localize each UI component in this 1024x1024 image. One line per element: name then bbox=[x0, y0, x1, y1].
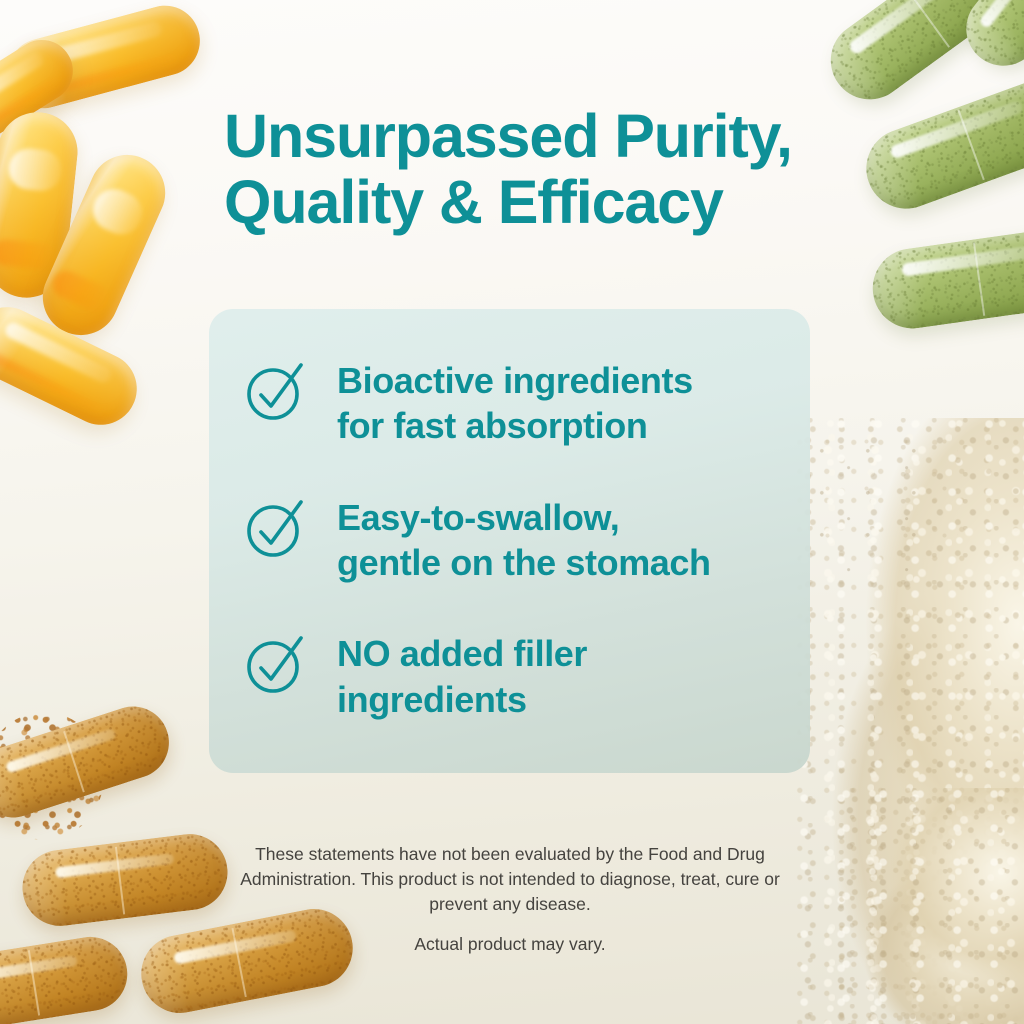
softgel-capsule bbox=[0, 28, 85, 149]
check-circle-icon bbox=[243, 631, 309, 697]
green-capsule bbox=[868, 222, 1024, 333]
turmeric-capsule bbox=[0, 697, 178, 827]
turmeric-capsule bbox=[0, 932, 133, 1024]
benefit-label: Bioactive ingredients for fast absorptio… bbox=[337, 356, 693, 449]
list-item: Bioactive ingredients for fast absorptio… bbox=[243, 356, 803, 449]
green-capsule bbox=[951, 0, 1024, 81]
turmeric-powder-crumbs bbox=[0, 712, 104, 840]
protein-powder-dust-decor bbox=[808, 434, 958, 574]
softgel-capsule bbox=[0, 108, 82, 301]
product-variation-note: Actual product may vary. bbox=[212, 932, 808, 957]
page-title: Unsurpassed Purity, Quality & Efficacy bbox=[224, 104, 824, 236]
protein-powder-pile-decor bbox=[838, 788, 1024, 1024]
check-circle-icon bbox=[243, 495, 309, 561]
headline-line-2: Quality & Efficacy bbox=[224, 168, 723, 236]
softgel-capsule bbox=[0, 295, 149, 437]
turmeric-capsule bbox=[135, 902, 360, 1019]
turmeric-capsule bbox=[18, 830, 232, 931]
benefit-label: Easy-to-swallow, gentle on the stomach bbox=[337, 493, 711, 586]
softgel-capsule bbox=[31, 143, 178, 347]
fda-disclaimer: These statements have not been evaluated… bbox=[212, 842, 808, 918]
check-circle-icon bbox=[243, 358, 309, 424]
softgel-capsule bbox=[0, 0, 207, 116]
green-capsule bbox=[815, 0, 1024, 115]
green-capsule bbox=[855, 68, 1024, 220]
product-benefits-graphic: Unsurpassed Purity, Quality & Efficacy B… bbox=[0, 0, 1024, 1024]
benefit-label: NO added filler ingredients bbox=[337, 629, 587, 722]
headline-line-1: Unsurpassed Purity, bbox=[224, 102, 792, 170]
list-item: NO added filler ingredients bbox=[243, 629, 803, 722]
list-item: Easy-to-swallow, gentle on the stomach bbox=[243, 493, 803, 586]
benefits-list: Bioactive ingredients for fast absorptio… bbox=[243, 356, 803, 722]
